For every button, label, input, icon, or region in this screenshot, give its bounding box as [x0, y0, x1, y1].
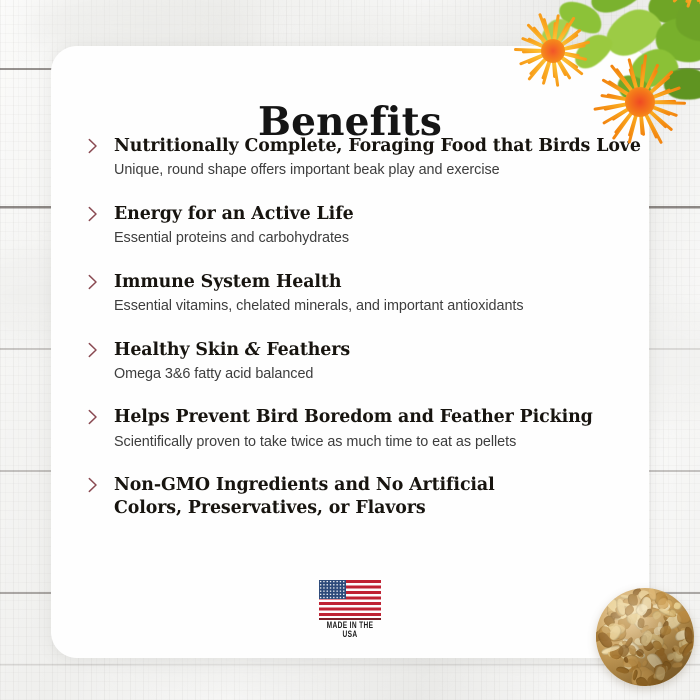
ampersand-glyph: &	[245, 340, 261, 360]
benefit-title-post: Feathers	[260, 340, 350, 360]
benefit-title: Nutritionally Complete, Foraging Food th…	[114, 135, 645, 158]
ball-shading	[596, 588, 694, 686]
benefit-subtitle: Essential proteins and carbohydrates	[114, 229, 645, 248]
list-item: Healthy Skin & Feathers Omega 3&6 fatty …	[85, 339, 645, 384]
benefit-title: Immune System Health	[114, 271, 645, 294]
badge-label: MADE IN THE USA	[319, 621, 381, 641]
list-item: Energy for an Active Life Essential prot…	[85, 203, 645, 248]
benefit-title: Helps Prevent Bird Boredom and Feather P…	[114, 406, 645, 429]
list-item: Helps Prevent Bird Boredom and Feather P…	[85, 406, 645, 451]
benefits-card: Benefits Nutritionally Complete, Foragin…	[51, 46, 649, 658]
bird-foraging-food-ball-image	[596, 588, 694, 686]
benefit-title: Non-GMO Ingredients and No Artificial Co…	[114, 474, 527, 520]
list-item: Immune System Health Essential vitamins,…	[85, 271, 645, 316]
chevron-right-icon	[86, 409, 100, 425]
benefit-title-pre: Healthy Skin	[114, 340, 245, 360]
chevron-right-icon	[86, 274, 100, 290]
made-in-usa-badge: MADE IN THE USA	[319, 580, 381, 635]
benefits-list: Nutritionally Complete, Foraging Food th…	[85, 135, 645, 524]
usa-flag-icon	[319, 580, 381, 616]
benefit-subtitle: Scientifically proven to take twice as m…	[114, 433, 645, 452]
flag-canton	[319, 580, 346, 599]
benefit-title: Healthy Skin & Feathers	[114, 339, 645, 362]
benefit-subtitle: Essential vitamins, chelated minerals, a…	[114, 297, 645, 316]
list-item: Nutritionally Complete, Foraging Food th…	[85, 135, 645, 180]
product-benefits-graphic: Benefits Nutritionally Complete, Foragin…	[0, 0, 700, 700]
chevron-right-icon	[86, 138, 100, 154]
benefit-title: Energy for an Active Life	[114, 203, 645, 226]
benefit-subtitle: Unique, round shape offers important bea…	[114, 161, 645, 180]
benefit-subtitle: Omega 3&6 fatty acid balanced	[114, 365, 645, 384]
list-item: Non-GMO Ingredients and No Artificial Co…	[85, 474, 645, 520]
chevron-right-icon	[86, 206, 100, 222]
chevron-right-icon	[86, 477, 100, 493]
chevron-right-icon	[86, 342, 100, 358]
badge-divider	[319, 618, 381, 620]
